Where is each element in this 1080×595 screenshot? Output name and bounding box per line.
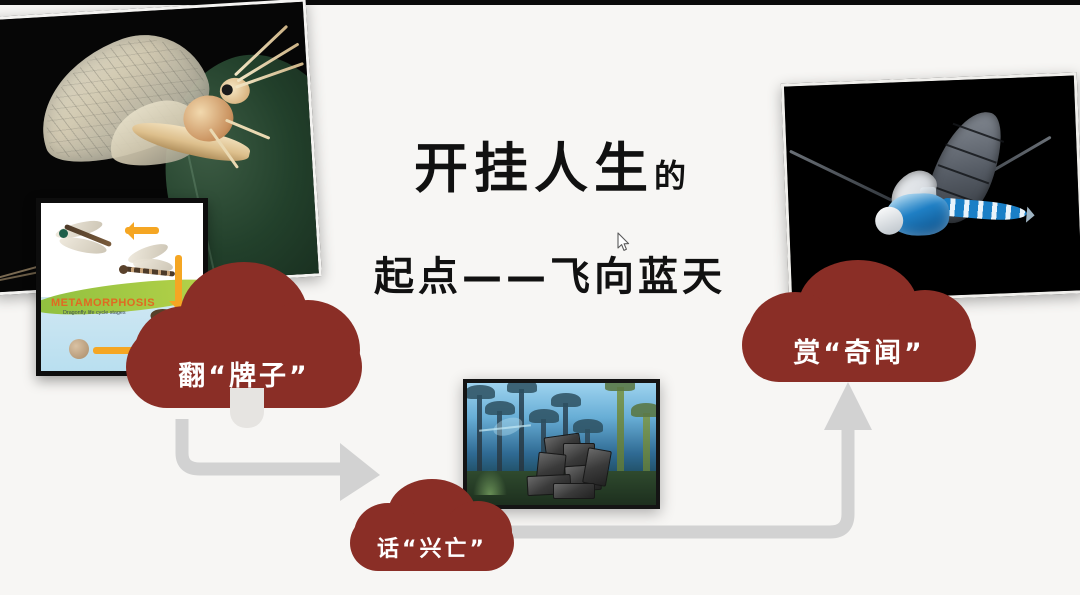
cloud-button-shang-qiwen[interactable]: 赏“奇闻” [742,260,976,400]
title-line-1-main: 开挂人生 [414,137,654,200]
cloud-2-label: 话“兴亡” [377,531,487,563]
slide-canvas: METAMORPHOSIS Dragonfly life cycle stage… [0,0,1080,595]
title-line-1-suffix: 的 [654,157,686,195]
cloud-button-fan-paizi[interactable]: 翻“牌子” [126,262,362,437]
robot-wing-thin [789,150,907,209]
arrow-to-adult-icon [125,227,159,234]
cloud-button-hua-xingwang[interactable]: 话“兴亡” [350,479,514,595]
title-line-1: 开挂人生的 [340,140,760,205]
cloud-3-label: 赏“奇闻” [793,331,925,370]
cloud-1-label: 翻“牌子” [178,354,310,393]
title-line-2: 起点——飞向蓝天 [340,251,760,303]
top-black-bar [0,0,1080,5]
egg-figure [69,339,89,359]
metamorphosis-subtitle: Dragonfly life cycle stages [63,310,126,316]
slide-title: 开挂人生的 起点——飞向蓝天 [340,140,760,303]
